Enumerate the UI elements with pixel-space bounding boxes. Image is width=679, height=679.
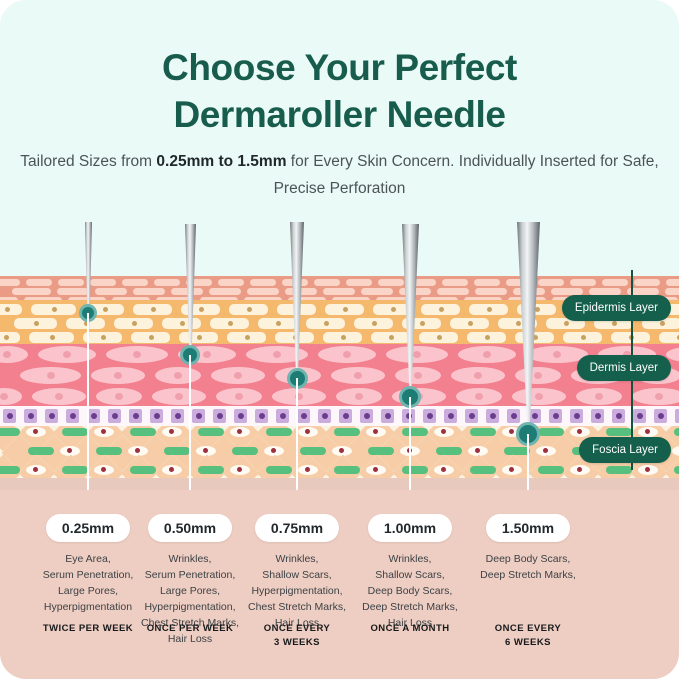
size-badge-1.50mm[interactable]: 1.50mm — [486, 514, 570, 542]
use-line: Chest Stretch Marks, — [235, 600, 359, 616]
frequency-1.50mm: ONCE EVERY6 WEEKS — [466, 622, 590, 650]
use-line: Wrinkles, — [348, 552, 472, 568]
subtitle-highlight: 0.25mm to 1.5mm — [156, 153, 286, 170]
subtitle: Tailored Sizes from 0.25mm to 1.5mm for … — [0, 148, 679, 202]
use-list-0.75mm: Wrinkles,Shallow Scars,Hyperpigmentation… — [235, 552, 359, 632]
use-line: Wrinkles, — [128, 552, 252, 568]
use-line: Wrinkles, — [235, 552, 359, 568]
use-line: Hyperpigmentation, — [235, 584, 359, 600]
use-list-1.50mm: Deep Body Scars,Deep Stretch Marks, — [466, 552, 590, 584]
title-line-1: Choose Your Perfect — [0, 44, 679, 91]
subtitle-pre: Tailored Sizes from — [20, 153, 156, 170]
frequency-0.75mm: ONCE EVERY3 WEEKS — [235, 622, 359, 650]
frequency-line: ONCE A MONTH — [348, 622, 472, 636]
frequency-line: 3 WEEKS — [235, 636, 359, 650]
connector-line-0.75mm — [296, 378, 298, 506]
use-line: Deep Stretch Marks, — [466, 568, 590, 584]
title-line-2: Dermaroller Needle — [0, 91, 679, 138]
layer-label-epidermis: Epidermis Layer — [562, 295, 671, 321]
use-line: Shallow Scars, — [235, 568, 359, 584]
layer-label-fascia: Foscia Layer — [579, 437, 671, 463]
frequency-line: ONCE PER WEEK — [128, 622, 252, 636]
dermis-band — [0, 344, 679, 406]
use-line: Large Pores, — [128, 584, 252, 600]
use-line: Deep Stretch Marks, — [348, 600, 472, 616]
size-badge-0.75mm[interactable]: 0.75mm — [255, 514, 339, 542]
subtitle-post: for Every Skin Concern. Individually Ins… — [274, 153, 659, 197]
size-badge-1.00mm[interactable]: 1.00mm — [368, 514, 452, 542]
needle-1.00mm — [401, 224, 420, 400]
fascia-band — [0, 426, 679, 478]
connector-line-0.50mm — [189, 355, 191, 506]
use-list-1.00mm: Wrinkles,Shallow Scars,Deep Body Scars,D… — [348, 552, 472, 632]
connector-line-0.25mm — [87, 313, 89, 506]
use-line: Deep Body Scars, — [466, 552, 590, 568]
needle-0.75mm — [289, 222, 305, 385]
use-line: Shallow Scars, — [348, 568, 472, 584]
page-title: Choose Your Perfect Dermaroller Needle — [0, 44, 679, 139]
frequency-line: 6 WEEKS — [466, 636, 590, 650]
use-line: Serum Penetration, — [128, 568, 252, 584]
frequency-1.00mm: ONCE A MONTH — [348, 622, 472, 636]
infographic-card: Choose Your Perfect Dermaroller Needle T… — [0, 0, 679, 679]
size-badge-0.25mm[interactable]: 0.25mm — [46, 514, 130, 542]
needle-1.50mm — [516, 222, 541, 440]
use-line: Hyperpigmentation, — [128, 600, 252, 616]
frequency-line: ONCE EVERY — [235, 622, 359, 636]
frequency-line: ONCE EVERY — [466, 622, 590, 636]
size-badge-0.50mm[interactable]: 0.50mm — [148, 514, 232, 542]
needle-spec-panel: 0.25mmEye Area,Serum Penetration,Large P… — [0, 490, 679, 679]
hypodermis-band — [0, 478, 679, 490]
frequency-0.50mm: ONCE PER WEEK — [128, 622, 252, 636]
layer-label-dermis: Dermis Layer — [577, 355, 671, 381]
use-line: Deep Body Scars, — [348, 584, 472, 600]
basal-cell-row — [0, 406, 679, 426]
header: Choose Your Perfect Dermaroller Needle T… — [0, 0, 679, 216]
